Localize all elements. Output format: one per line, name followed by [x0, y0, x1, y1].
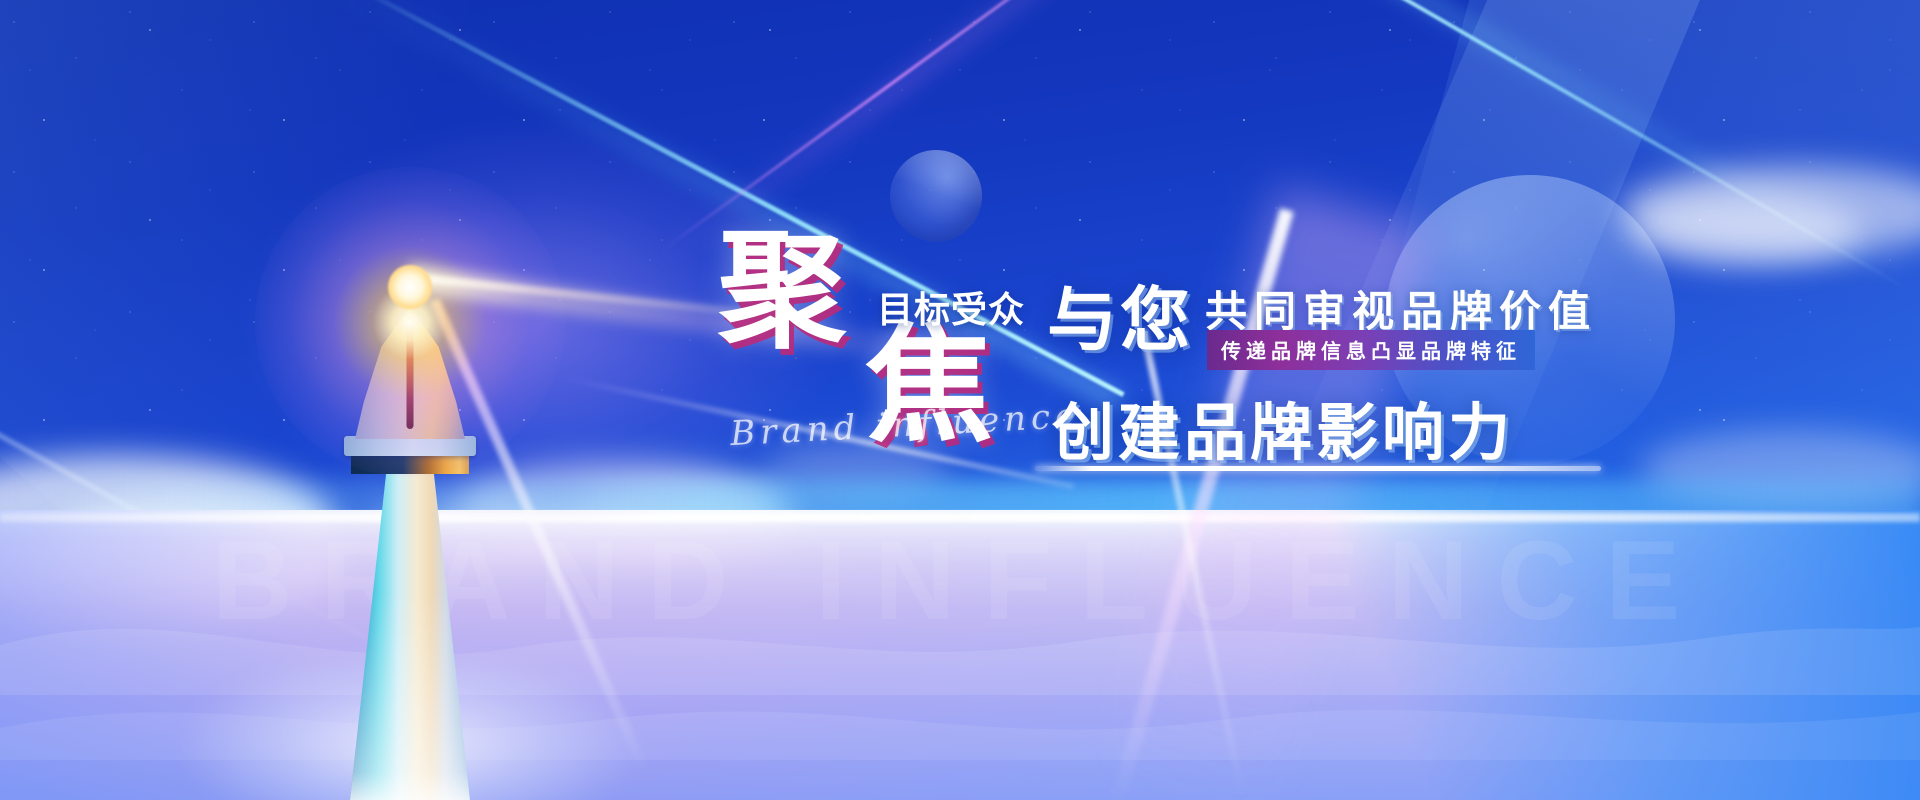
- lighthouse-tower-highlight: [350, 453, 470, 800]
- focus-char-ju: 聚: [718, 228, 846, 356]
- build-brand-impact-heading: 创建品牌影响力: [1052, 382, 1514, 472]
- headline-underline: [1035, 466, 1601, 471]
- light-beam-upper-right-glow: [1230, 0, 1915, 290]
- light-beam-upper-right: [1230, 0, 1907, 290]
- planet-small-shade: [890, 150, 982, 242]
- brand-message-badge: 传递品牌信息凸显品牌特征: [1207, 330, 1535, 370]
- with-you-heading: 与您: [1047, 264, 1193, 365]
- lighthouse-lamp-glow: [255, 167, 565, 477]
- lighthouse-pen-nib: [300, 225, 520, 800]
- promo-banner: BRAND INFLUENCE 聚 焦 目标受众 Brand influence…: [0, 0, 1920, 800]
- planet-small-icon: [890, 150, 982, 242]
- audience-label: 目标受众: [877, 281, 1025, 333]
- cloud-right-2: [1630, 195, 1860, 265]
- cloud-right-1: [1620, 165, 1920, 257]
- lighthouse-lamp-core: [388, 265, 432, 309]
- light-beam-magenta: [660, 0, 1163, 252]
- sea-surface-right-blue: [1280, 510, 1920, 800]
- horizon-line: [0, 513, 1920, 522]
